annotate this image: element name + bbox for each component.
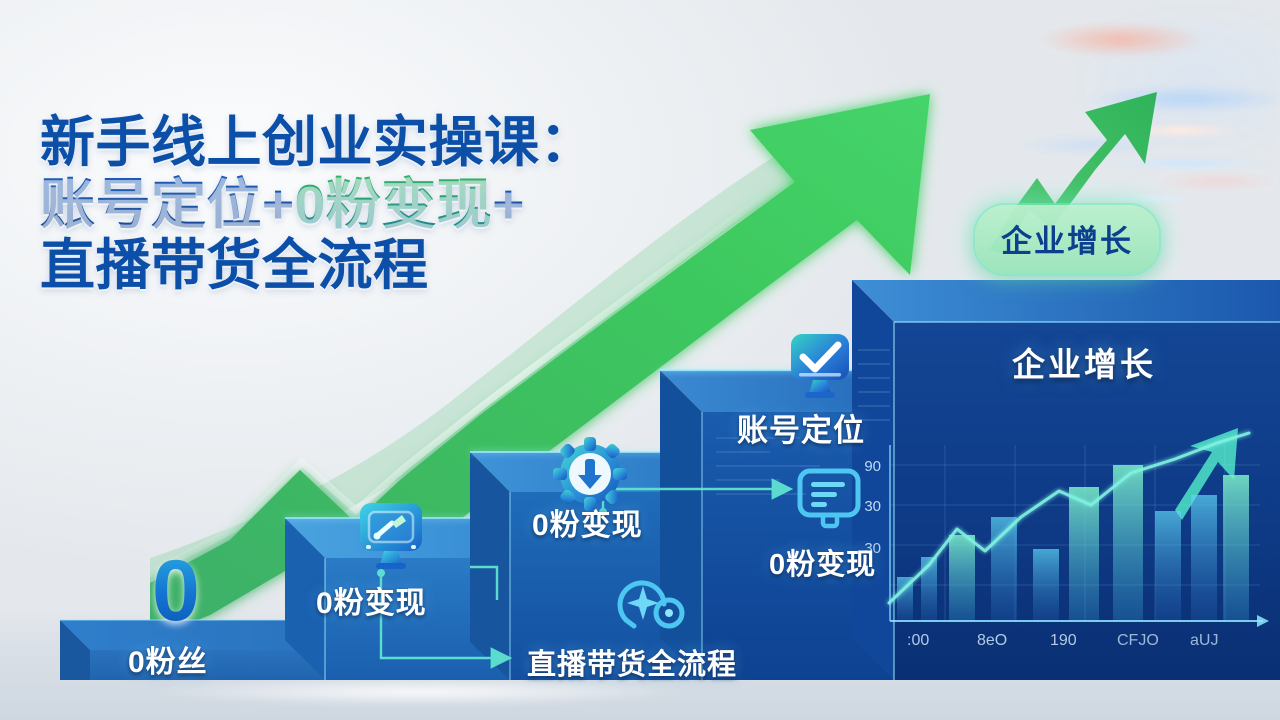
title-line-2-part-c: +: [492, 173, 525, 235]
background-streak-2: [1100, 160, 1270, 167]
step-label-1: 0粉丝: [128, 637, 208, 681]
board-lines-icon: [795, 466, 865, 534]
step-label-4: 账号定位: [737, 405, 865, 450]
chart-bars: [897, 465, 1249, 621]
sparkle-lens-icon: [614, 566, 688, 636]
title-line-2-part-a: 账号定位+: [40, 173, 295, 235]
poster-canvas: 新手线上创业实操课： 账号定位+0粉变现+ 直播带货全流程: [0, 0, 1280, 720]
poster-title: 新手线上创业实操课： 账号定位+0粉变现+ 直播带货全流程: [40, 112, 740, 297]
chart-x-tick-1: 8eO: [977, 632, 1007, 649]
title-line-1: 新手线上创业实操课：: [40, 112, 740, 174]
step-label-2: 0粉变现: [316, 578, 427, 622]
analytics-chart: 90 30 30 :00 8eO 190 CFJO aUJ: [845, 425, 1280, 685]
background-streak-1: [1120, 126, 1240, 135]
gear-download-icon: [553, 437, 627, 511]
chart-x-tick-0: :00: [907, 632, 929, 649]
zero-followers-number: 0: [152, 548, 200, 634]
chart-y-tick-1: 30: [864, 498, 881, 515]
chart-x-tick-2: 190: [1050, 632, 1077, 649]
monitor-check-icon: [786, 330, 856, 402]
floating-label-monetize: 0粉变现: [769, 541, 876, 583]
growth-badge: 企业增长: [975, 205, 1159, 274]
title-line-3: 直播带货全流程: [40, 235, 740, 297]
chart-x-tick-4: aUJ: [1190, 632, 1218, 649]
floating-label-live: 直播带货全流程: [527, 641, 737, 683]
monitor-chart-icon: [352, 495, 430, 573]
chart-x-tick-3: CFJO: [1117, 632, 1159, 649]
chart-y-tick-0: 90: [864, 458, 881, 475]
step-label-5: 企业增长: [1012, 338, 1156, 386]
title-line-2-highlight: 0粉变现: [295, 173, 493, 235]
title-line-2: 账号定位+0粉变现+: [40, 174, 740, 236]
